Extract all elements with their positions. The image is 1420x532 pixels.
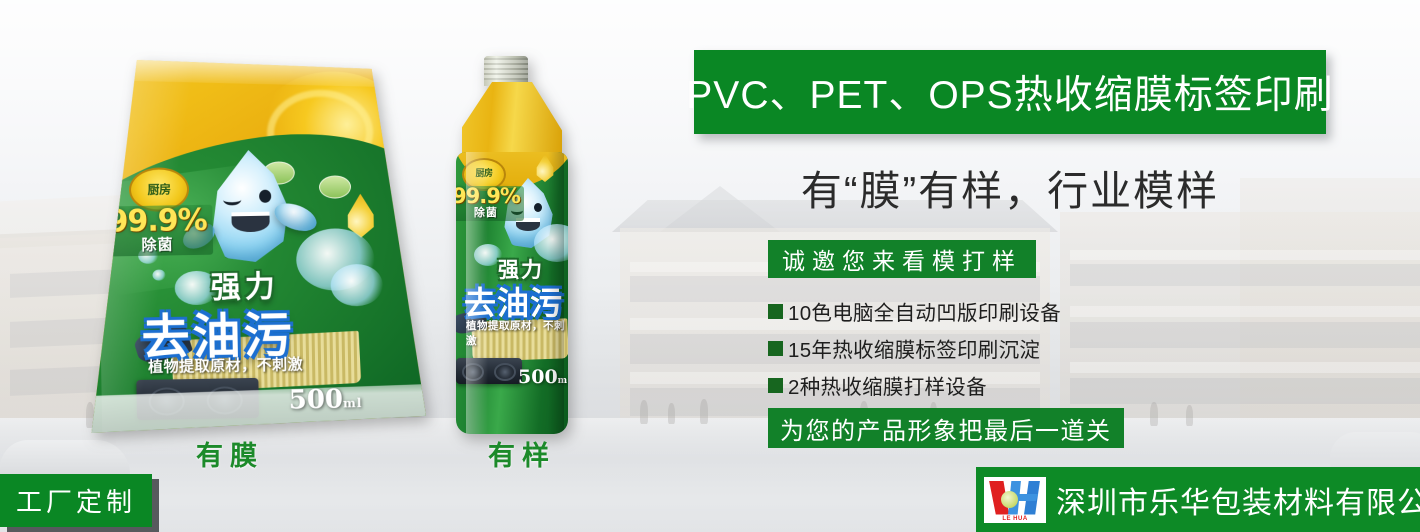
bottle-body-label: 厨房 99.9% 除菌 强力 去油污 植物提取原材，不刺激 500ml xyxy=(456,152,568,434)
feature-list: 10色电脑全自动凹版印刷设备 15年热收缩膜标签印刷沉淀 2种热收缩膜打样设备 xyxy=(768,296,1188,407)
leaf-badge-icon xyxy=(318,175,350,199)
product-bottle: 厨房 99.9% 除菌 强力 去油污 植物提取原材，不刺激 500ml xyxy=(440,56,582,434)
mascot-eye xyxy=(534,203,542,212)
caption-pouch: 有膜 xyxy=(196,434,264,473)
bullet-square-icon xyxy=(768,378,783,393)
header-banner: PVC、PET、OPS热收缩膜标签印刷 xyxy=(694,50,1326,134)
product-title-small: 强力 xyxy=(498,254,544,284)
bottle-gloss-highlight xyxy=(466,152,488,434)
bottle-shoulder xyxy=(462,82,562,160)
feature-text: 10色电脑全自动凹版印刷设备 xyxy=(788,296,1061,326)
mascot-mouth xyxy=(231,212,269,233)
invitation-tag: 诚邀您来看模打样 xyxy=(768,240,1036,278)
guarantee-bar: 为您的产品形象把最后一道关 xyxy=(768,408,1124,448)
bullet-square-icon xyxy=(768,341,783,356)
list-item: 10色电脑全自动凹版印刷设备 xyxy=(768,296,1188,326)
list-item: 2种热收缩膜打样设备 xyxy=(768,370,1188,400)
factory-custom-badge: 工厂定制 xyxy=(0,474,152,527)
mascot-eye xyxy=(259,190,271,203)
header-title: PVC、PET、OPS热收缩膜标签印刷 xyxy=(686,64,1333,120)
guarantee-label: 为您的产品形象把最后一道关 xyxy=(780,411,1112,446)
mascot-winking-eye xyxy=(223,194,241,205)
company-name: 深圳市乐华包装材料有限公司 xyxy=(1056,478,1420,522)
bullet-square-icon xyxy=(768,304,783,319)
factory-custom-label: 工厂定制 xyxy=(16,482,136,519)
list-item: 15年热收缩膜标签印刷沉淀 xyxy=(768,333,1188,363)
stove-burner xyxy=(494,363,516,381)
bottle-neck-threads xyxy=(484,58,528,80)
product-pouch: 厨房 99.9% 除菌 强力 去油污 植物提取原材，不刺激 500ml xyxy=(75,55,426,433)
invitation-tag-label: 诚邀您来看模打样 xyxy=(782,242,1022,276)
feature-text: 2种热收缩膜打样设备 xyxy=(788,370,987,400)
mascot-winking-eye xyxy=(511,206,523,215)
caption-bottle: 有样 xyxy=(488,434,556,473)
pouch-top-seal xyxy=(130,55,379,87)
logo-wordmark: LE HUA xyxy=(984,516,1046,522)
company-logo-icon: LE HUA xyxy=(984,477,1046,523)
pouch-body: 厨房 99.9% 除菌 强力 去油污 植物提取原材，不刺激 500ml xyxy=(75,55,426,433)
feature-text: 15年热收缩膜标签印刷沉淀 xyxy=(788,333,1040,363)
bottle-edge-shade xyxy=(548,152,564,434)
logo-circle-shape xyxy=(1001,491,1018,508)
mascot-mouth xyxy=(516,218,540,231)
subtitle: 有“膜”有样，行业模样 xyxy=(694,157,1326,217)
promotional-banner: 厨房 99.9% 除菌 强力 去油污 植物提取原材，不刺激 500ml xyxy=(0,0,1420,532)
company-bar: LE HUA 深圳市乐华包装材料有限公司 xyxy=(976,467,1420,532)
